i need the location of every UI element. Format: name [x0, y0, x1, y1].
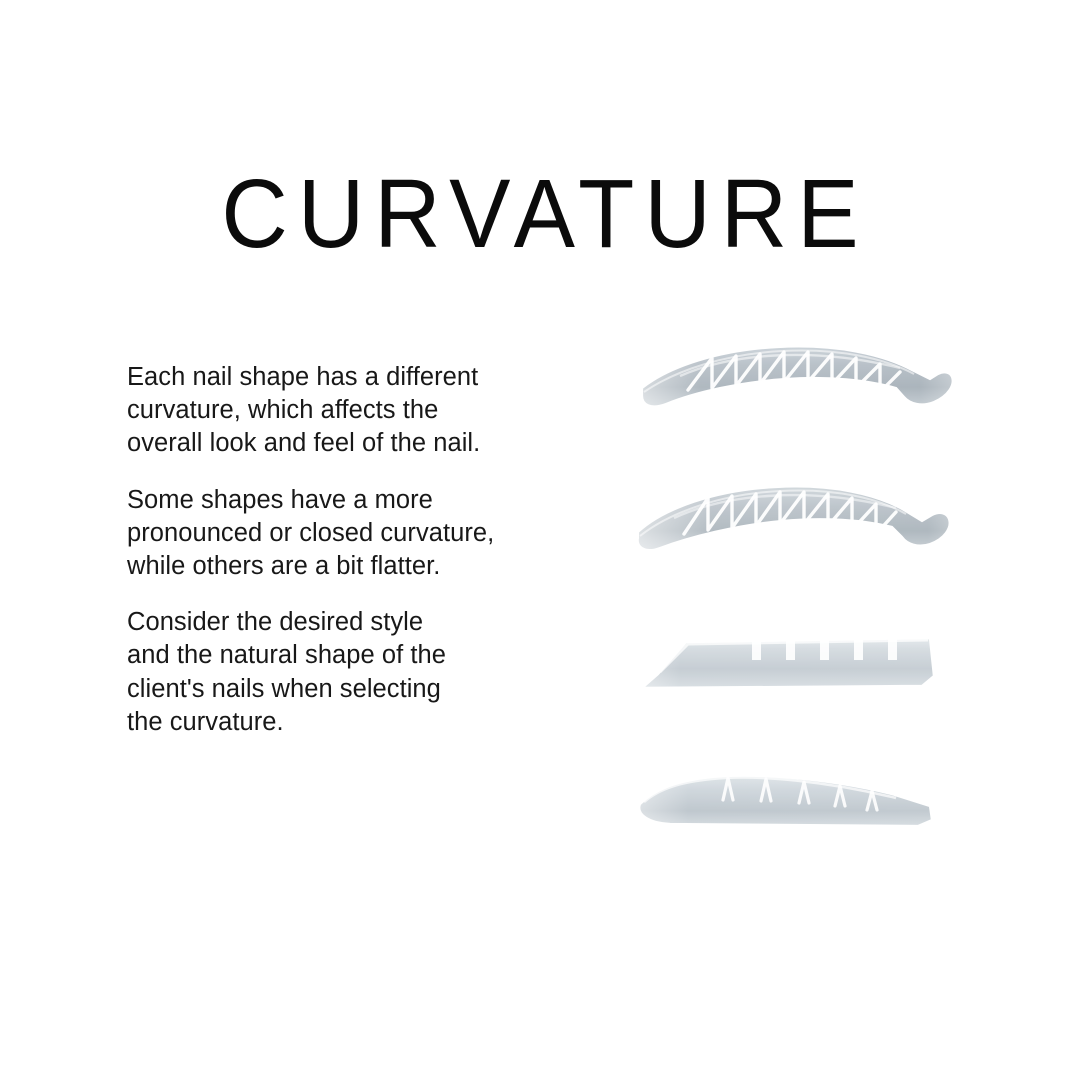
- slide-canvas: CURVATURE Each nail shape has a differen…: [0, 0, 1080, 1080]
- nail-form-1-highlights: [600, 330, 1000, 450]
- paragraph-2: Some shapes have a more pronounced or cl…: [127, 484, 597, 584]
- nail-form-3: [600, 608, 1000, 728]
- paragraph-3-line-1: Consider the desired style: [127, 606, 597, 639]
- paragraph-1-line-1: Each nail shape has a different: [127, 361, 597, 394]
- nail-form-3-highlights: [600, 608, 1000, 728]
- page-title: CURVATURE: [0, 163, 1080, 265]
- paragraph-1-line-3: overall look and feel of the nail.: [127, 427, 597, 460]
- paragraph-3-line-4: the curvature.: [127, 706, 597, 739]
- paragraph-1: Each nail shape has a different curvatur…: [127, 361, 597, 461]
- paragraph-2-line-1: Some shapes have a more: [127, 484, 597, 517]
- nail-form-4-highlights: [600, 744, 1000, 864]
- nail-forms-figure: Four nail tip forms shown in profile, fr…: [600, 320, 1000, 850]
- paragraph-2-line-2: pronounced or closed curvature,: [127, 517, 597, 550]
- nail-form-2: [600, 468, 1000, 588]
- paragraph-3-line-3: client's nails when selecting: [127, 673, 597, 706]
- paragraph-2-line-3: while others are a bit flatter.: [127, 550, 597, 583]
- paragraph-1-line-2: curvature, which affects the: [127, 394, 597, 427]
- paragraph-3-line-2: and the natural shape of the: [127, 639, 597, 672]
- nail-form-4: [600, 744, 1000, 864]
- paragraph-3: Consider the desired style and the natur…: [127, 606, 597, 739]
- nail-form-1: [600, 330, 1000, 450]
- body-copy: Each nail shape has a different curvatur…: [127, 361, 597, 739]
